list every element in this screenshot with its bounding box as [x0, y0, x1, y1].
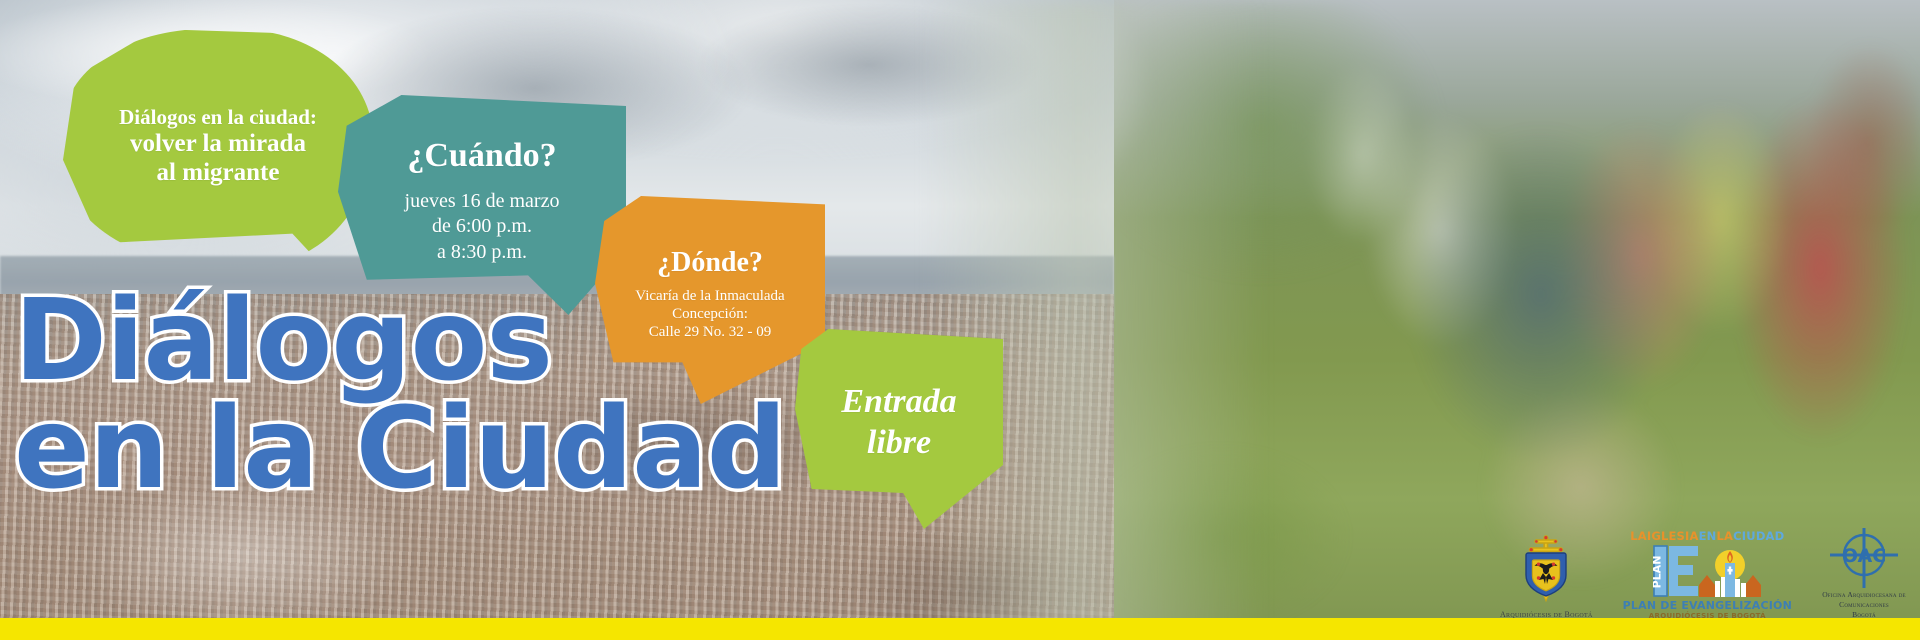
bubble-topic-line2: volver la mirada [130, 129, 306, 158]
plan-e-tagline-part3: LA [1717, 529, 1734, 543]
logo-oac: OAC Oficina Arquidiocesana de Comunicaci… [1822, 528, 1906, 620]
poster-canvas: Diálogos en la ciudad: volver la mirada … [0, 0, 1920, 640]
plan-e-tagline-part1: LAIGLESIA [1630, 529, 1698, 543]
plan-e-tagline-part2: EN [1699, 529, 1717, 543]
logo-oac-caption-line2: Comunicaciones [1822, 600, 1906, 610]
oac-acronym-text: OAC [1842, 545, 1886, 567]
plan-e-bottom-label: PLAN DE EVANGELIZACIÓN [1623, 599, 1792, 612]
bubble-free-line1: Entrada [841, 382, 956, 423]
plan-e-tagline: LAIGLESIAENLACIUDAD [1630, 529, 1784, 543]
plan-e-mark: PLAN [1653, 545, 1761, 597]
bubble-topic-line3: al migrante [157, 158, 280, 187]
bubble-when-line3: a 8:30 p.m. [437, 240, 527, 266]
logo-arquidiocesis-de-bogota: Arquidiócesis de Bogotá [1500, 531, 1593, 620]
footer-accent-bar [0, 618, 1920, 640]
logo-strip: Arquidiócesis de Bogotá LAIGLESIAENLACIU… [1500, 528, 1906, 620]
logo-oac-caption-line1: Oficina Arquidiocesana de [1822, 590, 1906, 600]
plan-e-word-plan: PLAN [1653, 556, 1664, 589]
plan-e-tagline-part4: CIUDAD [1733, 529, 1784, 543]
bubble-when-heading: ¿Cuándo? [407, 137, 556, 175]
headline-line-2: en la Ciudad [14, 396, 786, 504]
bubble-free-line2: libre [867, 423, 931, 464]
oac-cross-circle-icon: OAC [1822, 528, 1906, 588]
page-title: Diálogos en la Ciudad [14, 288, 786, 503]
logo-plan-evangelizacion: LAIGLESIAENLACIUDAD PLAN [1623, 529, 1792, 620]
photo-blend-seam [922, 0, 1268, 640]
plan-e-letter-icon: PLAN [1653, 545, 1699, 597]
coat-of-arms-icon [1517, 531, 1575, 607]
logo-oac-caption: Oficina Arquidiocesana de Comunicaciones… [1822, 590, 1906, 620]
bubble-where-heading: ¿Dónde? [657, 247, 763, 279]
bubble-when-line1: jueves 16 de marzo [405, 189, 560, 215]
speech-bubble-topic: Diálogos en la ciudad: volver la mirada … [63, 29, 373, 267]
bubble-topic-line1: Diálogos en la ciudad: [119, 105, 317, 129]
candle-city-icon [1699, 545, 1761, 597]
bubble-when-line2: de 6:00 p.m. [432, 214, 532, 240]
